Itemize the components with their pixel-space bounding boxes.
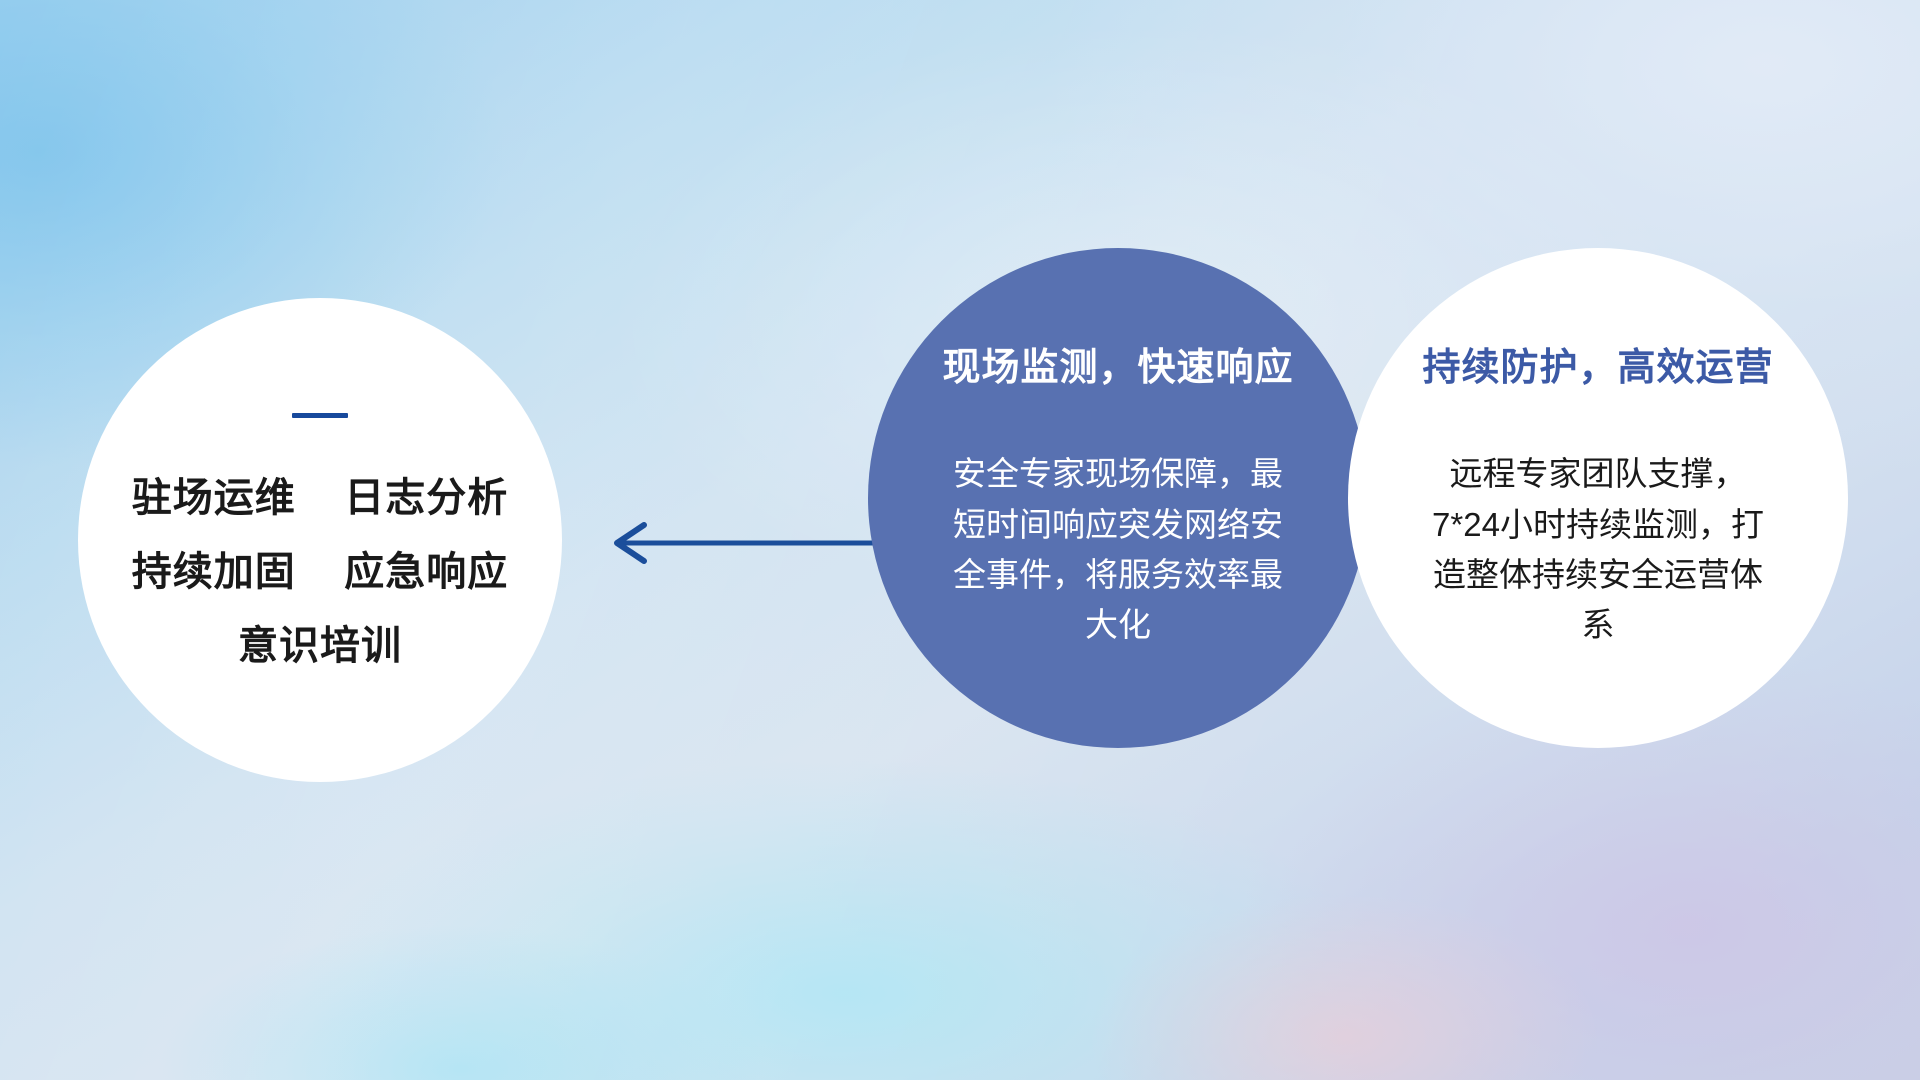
capability-list: 驻场运维 日志分析 持续加固 应急响应 意识培训 bbox=[78, 476, 562, 668]
divider-line bbox=[292, 413, 348, 418]
remote-body: 远程专家团队支撑，7*24小时持续监测，打造整体持续安全运营体系 bbox=[1418, 449, 1778, 650]
service-circle-onsite[interactable]: 现场监测，快速响应 安全专家现场保障，最短时间响应突发网络安全事件，将服务效率最… bbox=[868, 248, 1368, 748]
capability-line-3: 意识培训 bbox=[78, 624, 562, 668]
arrow-left-icon bbox=[600, 508, 900, 578]
onsite-heading: 现场监测，快速响应 bbox=[942, 346, 1293, 392]
capability-circle-left[interactable]: 驻场运维 日志分析 持续加固 应急响应 意识培训 bbox=[78, 298, 562, 782]
capability-line-2: 持续加固 应急响应 bbox=[78, 550, 562, 594]
onsite-body: 安全专家现场保障，最短时间响应突发网络安全事件，将服务效率最大化 bbox=[953, 449, 1283, 650]
service-circle-remote[interactable]: 持续防护，高效运营 远程专家团队支撑，7*24小时持续监测，打造整体持续安全运营… bbox=[1348, 248, 1848, 748]
capability-line-1: 驻场运维 日志分析 bbox=[78, 476, 562, 520]
remote-heading: 持续防护，高效运营 bbox=[1422, 346, 1773, 392]
slide-canvas: 驻场运维 日志分析 持续加固 应急响应 意识培训 现场监测，快速响应 安全专家现… bbox=[0, 0, 1920, 1080]
